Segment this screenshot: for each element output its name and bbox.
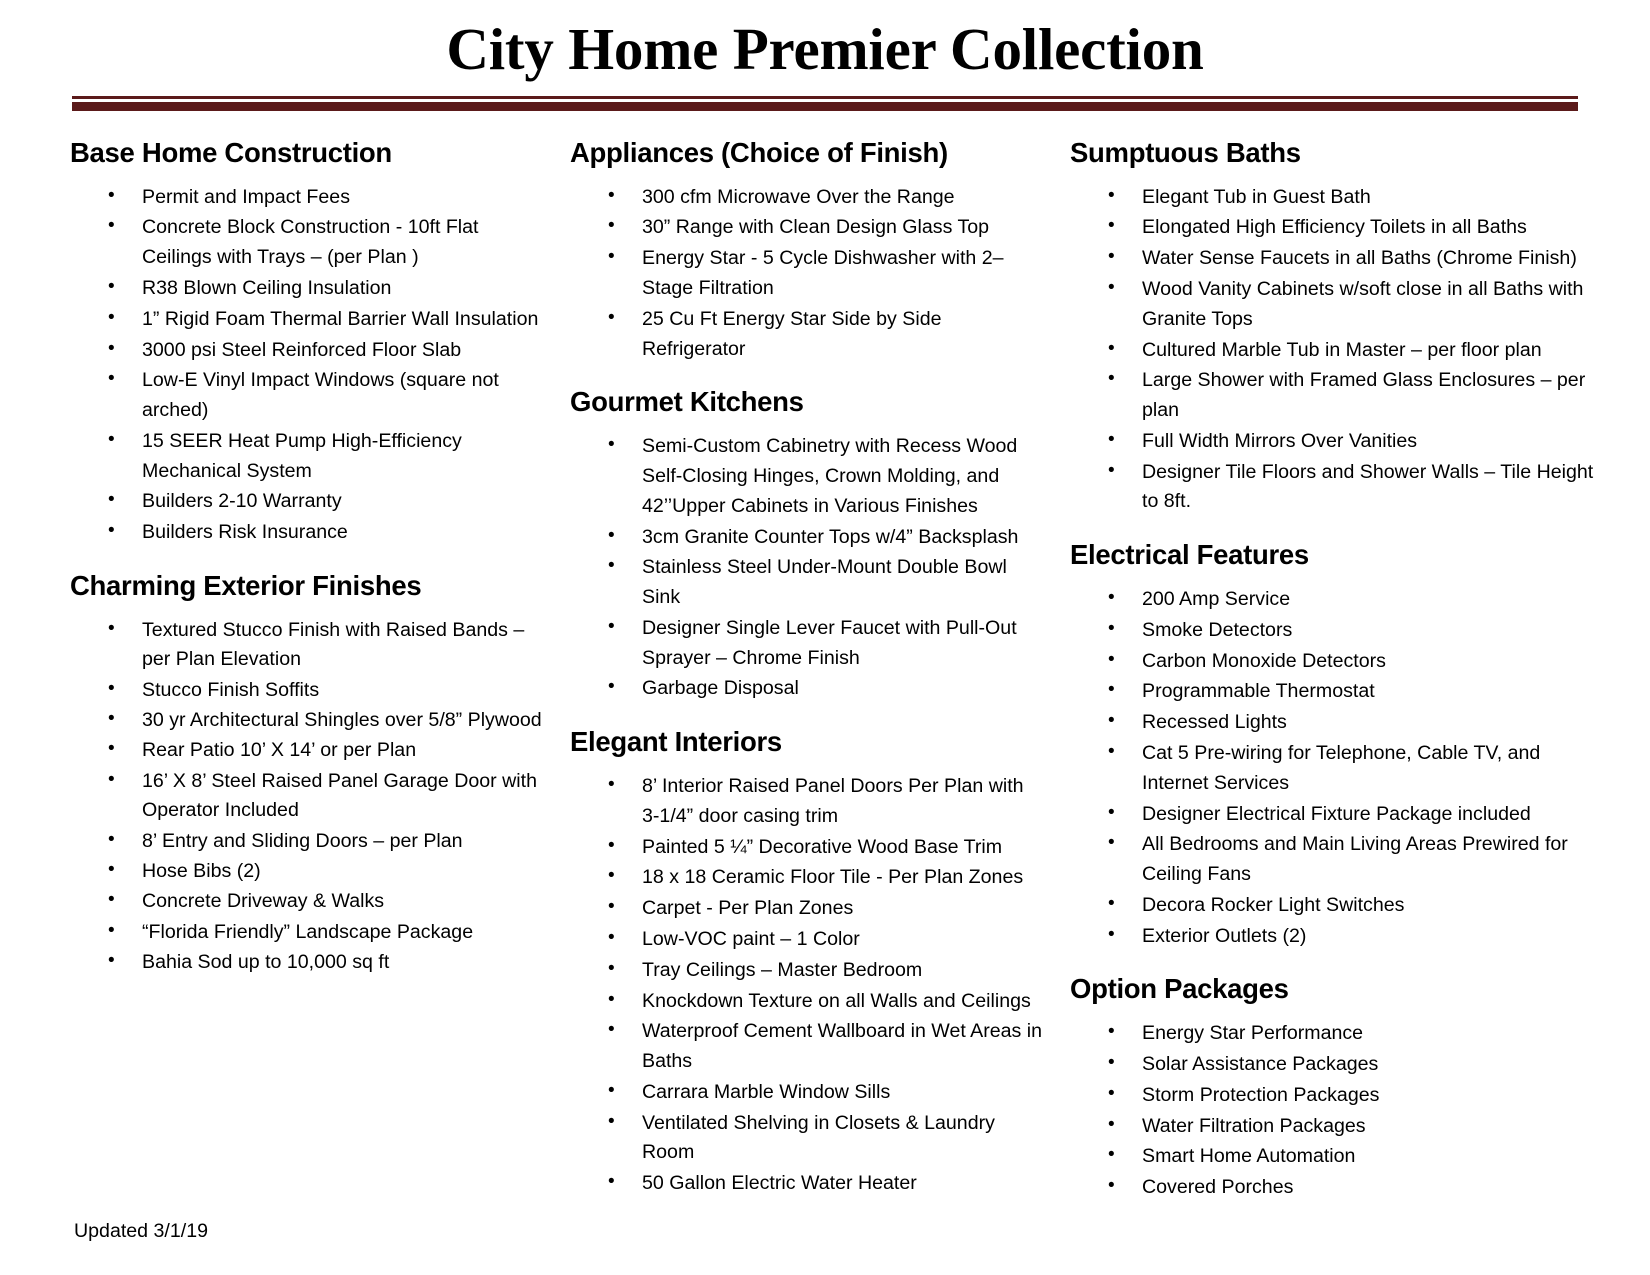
feature-list-base-home-construction: Permit and Impact FeesConcrete Block Con… xyxy=(70,183,544,548)
feature-item: Carbon Monoxide Detectors xyxy=(1070,647,1606,677)
feature-item: 25 Cu Ft Energy Star Side by Side Refrig… xyxy=(570,305,1046,365)
feature-item: R38 Blown Ceiling Insulation xyxy=(70,274,544,304)
feature-item: Wood Vanity Cabinets w/soft close in all… xyxy=(1070,275,1606,335)
section-sumptuous-baths: Sumptuous BathsElegant Tub in Guest Bath… xyxy=(1070,137,1606,517)
feature-list-sumptuous-baths: Elegant Tub in Guest BathElongated High … xyxy=(1070,183,1606,518)
feature-item: 8’ Interior Raised Panel Doors Per Plan … xyxy=(570,772,1046,832)
section-heading-appliances-choice-of-finish: Appliances (Choice of Finish) xyxy=(570,137,1046,169)
feature-item: Solar Assistance Packages xyxy=(1070,1050,1606,1080)
feature-item: Carpet - Per Plan Zones xyxy=(570,894,1046,924)
feature-item: Permit and Impact Fees xyxy=(70,183,544,213)
feature-item: Water Filtration Packages xyxy=(1070,1112,1606,1142)
feature-item: 200 Amp Service xyxy=(1070,585,1606,615)
section-base-home-construction: Base Home ConstructionPermit and Impact … xyxy=(70,137,544,548)
feature-item: Covered Porches xyxy=(1070,1173,1606,1203)
feature-item: Hose Bibs (2) xyxy=(70,857,544,886)
feature-item: Exterior Outlets (2) xyxy=(1070,922,1606,952)
feature-item: Low-E Vinyl Impact Windows (square not a… xyxy=(70,366,544,426)
section-charming-exterior-finishes: Charming Exterior FinishesTextured Stucc… xyxy=(70,570,544,978)
header-divider xyxy=(72,96,1578,111)
feature-item: Elegant Tub in Guest Bath xyxy=(1070,183,1606,213)
feature-list-gourmet-kitchens: Semi-Custom Cabinetry with Recess Wood S… xyxy=(570,432,1046,704)
feature-item: Concrete Driveway & Walks xyxy=(70,887,544,916)
feature-item: Full Width Mirrors Over Vanities xyxy=(1070,427,1606,457)
feature-item: 3cm Granite Counter Tops w/4” Backsplash xyxy=(570,523,1046,553)
feature-item: Garbage Disposal xyxy=(570,674,1046,704)
feature-item: 300 cfm Microwave Over the Range xyxy=(570,183,1046,213)
feature-list-electrical-features: 200 Amp ServiceSmoke DetectorsCarbon Mon… xyxy=(1070,585,1606,951)
feature-item: Concrete Block Construction - 10ft Flat … xyxy=(70,213,544,273)
feature-item: Textured Stucco Finish with Raised Bands… xyxy=(70,616,544,675)
feature-item: Elongated High Efficiency Toilets in all… xyxy=(1070,213,1606,243)
column-1: Base Home ConstructionPermit and Impact … xyxy=(70,137,570,979)
feature-item: Cultured Marble Tub in Master – per floo… xyxy=(1070,336,1606,366)
section-appliances-choice-of-finish: Appliances (Choice of Finish)300 cfm Mic… xyxy=(570,137,1046,365)
feature-item: Low-VOC paint – 1 Color xyxy=(570,925,1046,955)
feature-item: Storm Protection Packages xyxy=(1070,1081,1606,1111)
feature-item: Waterproof Cement Wallboard in Wet Areas… xyxy=(570,1017,1046,1077)
section-option-packages: Option PackagesEnergy Star PerformanceSo… xyxy=(1070,973,1606,1203)
feature-item: Tray Ceilings – Master Bedroom xyxy=(570,956,1046,986)
feature-item: 16’ X 8’ Steel Raised Panel Garage Door … xyxy=(70,767,544,826)
column-2: Appliances (Choice of Finish)300 cfm Mic… xyxy=(570,137,1070,1200)
feature-list-elegant-interiors: 8’ Interior Raised Panel Doors Per Plan … xyxy=(570,772,1046,1199)
feature-item: 30” Range with Clean Design Glass Top xyxy=(570,213,1046,243)
feature-item: Energy Star Performance xyxy=(1070,1019,1606,1049)
feature-item: Smoke Detectors xyxy=(1070,616,1606,646)
feature-item: Ventilated Shelving in Closets & Laundry… xyxy=(570,1109,1046,1169)
feature-item: Smart Home Automation xyxy=(1070,1142,1606,1172)
feature-item: Designer Electrical Fixture Package incl… xyxy=(1070,800,1606,830)
page-title: City Home Premier Collection xyxy=(0,18,1650,82)
feature-item: Decora Rocker Light Switches xyxy=(1070,891,1606,921)
feature-item: Recessed Lights xyxy=(1070,708,1606,738)
feature-list-charming-exterior-finishes: Textured Stucco Finish with Raised Bands… xyxy=(70,616,544,978)
feature-list-appliances-choice-of-finish: 300 cfm Microwave Over the Range30” Rang… xyxy=(570,183,1046,365)
feature-item: 30 yr Architectural Shingles over 5/8” P… xyxy=(70,706,544,735)
feature-list-option-packages: Energy Star PerformanceSolar Assistance … xyxy=(1070,1019,1606,1203)
feature-item: 3000 psi Steel Reinforced Floor Slab xyxy=(70,336,544,366)
section-electrical-features: Electrical Features200 Amp ServiceSmoke … xyxy=(1070,539,1606,951)
brochure-page: City Home Premier Collection Base Home C… xyxy=(0,0,1650,1275)
feature-item: Cat 5 Pre-wiring for Telephone, Cable TV… xyxy=(1070,739,1606,799)
feature-item: Programmable Thermostat xyxy=(1070,677,1606,707)
feature-item: “Florida Friendly” Landscape Package xyxy=(70,918,544,947)
feature-item: Painted 5 ¼” Decorative Wood Base Trim xyxy=(570,833,1046,863)
section-heading-option-packages: Option Packages xyxy=(1070,973,1606,1005)
feature-item: 8’ Entry and Sliding Doors – per Plan xyxy=(70,827,544,856)
divider-thick-line xyxy=(72,102,1578,111)
feature-item: Builders 2-10 Warranty xyxy=(70,487,544,517)
section-heading-gourmet-kitchens: Gourmet Kitchens xyxy=(570,386,1046,418)
section-heading-electrical-features: Electrical Features xyxy=(1070,539,1606,571)
feature-item: Builders Risk Insurance xyxy=(70,518,544,548)
feature-item: Designer Single Lever Faucet with Pull-O… xyxy=(570,614,1046,674)
feature-item: Carrara Marble Window Sills xyxy=(570,1078,1046,1108)
section-heading-charming-exterior-finishes: Charming Exterior Finishes xyxy=(70,570,544,602)
feature-item: Designer Tile Floors and Shower Walls – … xyxy=(1070,458,1606,518)
feature-item: 18 x 18 Ceramic Floor Tile - Per Plan Zo… xyxy=(570,863,1046,893)
title-block: City Home Premier Collection xyxy=(0,0,1650,82)
section-heading-sumptuous-baths: Sumptuous Baths xyxy=(1070,137,1606,169)
updated-footer: Updated 3/1/19 xyxy=(74,1218,208,1245)
feature-item: Rear Patio 10’ X 14’ or per Plan xyxy=(70,736,544,765)
feature-item: Water Sense Faucets in all Baths (Chrome… xyxy=(1070,244,1606,274)
section-heading-elegant-interiors: Elegant Interiors xyxy=(570,726,1046,758)
feature-item: Knockdown Texture on all Walls and Ceili… xyxy=(570,987,1046,1017)
feature-item: 50 Gallon Electric Water Heater xyxy=(570,1169,1046,1199)
section-heading-base-home-construction: Base Home Construction xyxy=(70,137,544,169)
section-elegant-interiors: Elegant Interiors8’ Interior Raised Pane… xyxy=(570,726,1046,1199)
section-gourmet-kitchens: Gourmet KitchensSemi-Custom Cabinetry wi… xyxy=(570,386,1046,704)
feature-item: Semi-Custom Cabinetry with Recess Wood S… xyxy=(570,432,1046,521)
column-3: Sumptuous BathsElegant Tub in Guest Bath… xyxy=(1070,137,1606,1204)
feature-item: Stucco Finish Soffits xyxy=(70,676,544,705)
feature-columns: Base Home ConstructionPermit and Impact … xyxy=(0,137,1650,1204)
feature-item: Energy Star - 5 Cycle Dishwasher with 2–… xyxy=(570,244,1046,304)
feature-item: Large Shower with Framed Glass Enclosure… xyxy=(1070,366,1606,426)
feature-item: 1” Rigid Foam Thermal Barrier Wall Insul… xyxy=(70,305,544,335)
feature-item: Stainless Steel Under-Mount Double Bowl … xyxy=(570,553,1046,613)
feature-item: 15 SEER Heat Pump High-Efficiency Mechan… xyxy=(70,427,544,487)
feature-item: Bahia Sod up to 10,000 sq ft xyxy=(70,948,544,977)
feature-item: All Bedrooms and Main Living Areas Prewi… xyxy=(1070,830,1606,890)
